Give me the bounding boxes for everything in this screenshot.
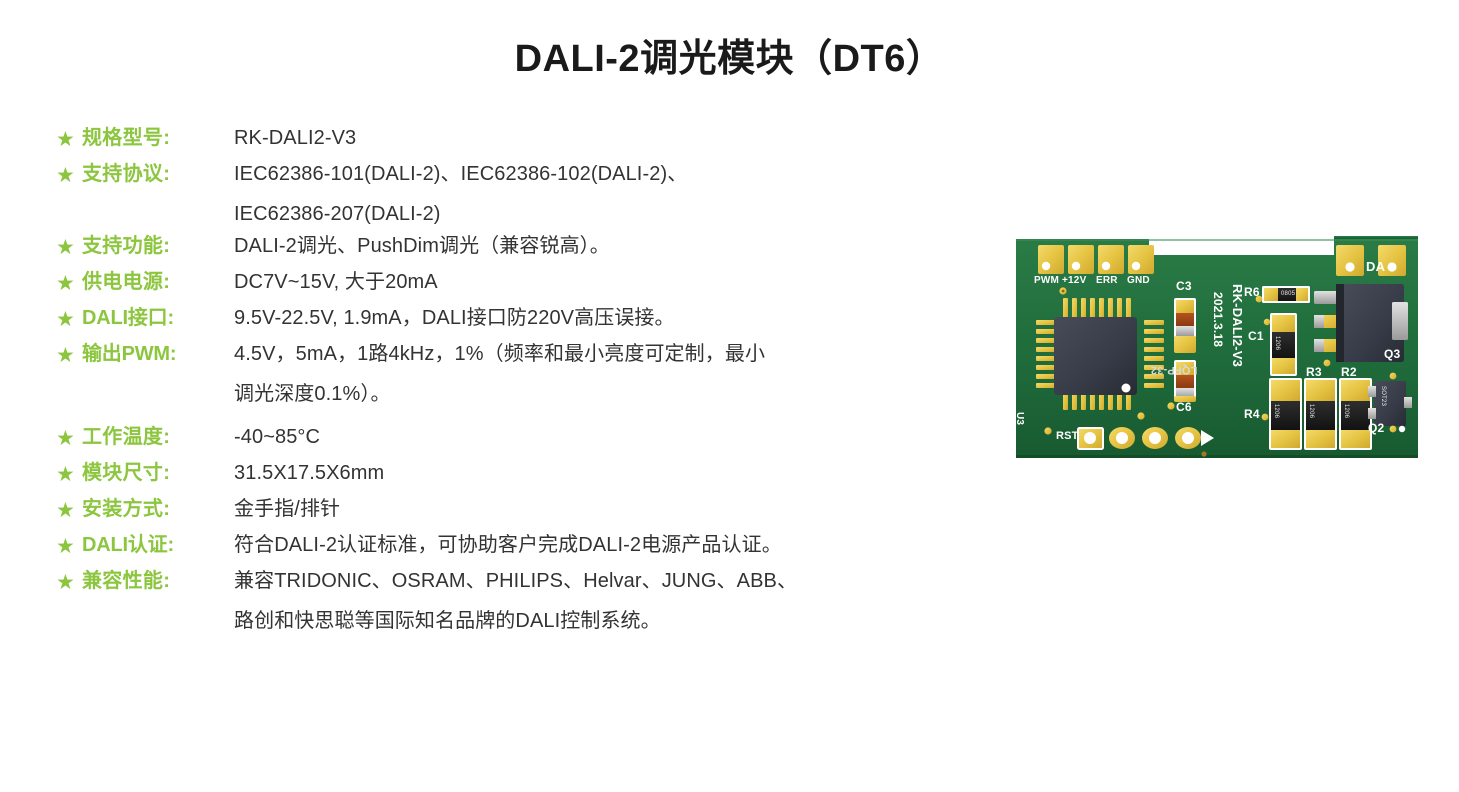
star-icon: ★	[56, 162, 82, 190]
spec-label: 供电电源:	[82, 268, 234, 296]
spec-value-line1: IEC62386-101(DALI-2)、IEC62386-102(DALI-2…	[234, 163, 687, 185]
pcb-component-code-r3: 1206	[1308, 404, 1314, 418]
pcb-component-code-r2: 1206	[1343, 404, 1349, 418]
spec-row-dimensions: ★ 模块尺寸: 31.5X17.5X6mm	[56, 459, 966, 489]
star-icon: ★	[56, 461, 82, 489]
star-icon: ★	[56, 533, 82, 561]
spec-value: 兼容TRIDONIC、OSRAM、PHILIPS、Helvar、JUNG、ABB…	[234, 567, 966, 635]
spec-value-line1: 4.5V，5mA，1路4kHz，1%（频率和最小亮度可定制，最小	[234, 343, 765, 365]
star-icon: ★	[56, 497, 82, 525]
pcb-designator-q3: Q3	[1384, 348, 1400, 360]
spec-value: 金手指/排针	[234, 495, 966, 523]
spec-row-compatibility: ★ 兼容性能: 兼容TRIDONIC、OSRAM、PHILIPS、Helvar、…	[56, 567, 966, 635]
pcb-designator-r3: R3	[1306, 366, 1322, 378]
spec-label: 支持功能:	[82, 232, 234, 260]
pcb-designator-c1: C1	[1248, 330, 1264, 342]
pcb-designator-u3: U3	[1014, 412, 1024, 425]
spec-value: 9.5V-22.5V, 1.9mA，DALI接口防220V高压误接。	[234, 304, 966, 332]
spec-label: 工作温度:	[82, 423, 234, 451]
star-icon: ★	[56, 126, 82, 154]
spec-value: 符合DALI-2认证标准，可协助客户完成DALI-2电源产品认证。	[234, 531, 966, 559]
spec-value-line2: 路创和快思聪等国际知名品牌的DALI控制系统。	[234, 607, 966, 635]
star-icon: ★	[56, 569, 82, 597]
spec-row-pwm-output: ★ 输出PWM: 4.5V，5mA，1路4kHz，1%（频率和最小亮度可定制，最…	[56, 340, 966, 408]
pcb-pad-label-12v: +12V	[1062, 276, 1086, 286]
pcb-designator-c3: C3	[1176, 280, 1192, 292]
pcb-pad-label-da: DA	[1366, 260, 1385, 273]
pcb-chip-label: LQFP-32	[1134, 364, 1214, 375]
pcb-component-code-c1: 1206	[1274, 336, 1280, 350]
spec-value: IEC62386-101(DALI-2)、IEC62386-102(DALI-2…	[234, 160, 966, 228]
spec-row-protocols: ★ 支持协议: IEC62386-101(DALI-2)、IEC62386-10…	[56, 160, 966, 228]
spec-row-power-supply: ★ 供电电源: DC7V~15V, 大于20mA	[56, 268, 966, 298]
pcb-pad-label-gnd: GND	[1127, 276, 1150, 286]
spec-row-mounting: ★ 安装方式: 金手指/排针	[56, 495, 966, 525]
star-icon: ★	[56, 234, 82, 262]
pcb-designator-r6: R6	[1244, 286, 1260, 298]
spec-value: RK-DALI2-V3	[234, 124, 966, 152]
pcb-bottom-pads	[1078, 427, 1214, 449]
pcb-pad-label-err: ERR	[1096, 276, 1118, 286]
spec-value: DALI-2调光、PushDim调光（兼容锐高）。	[234, 232, 966, 260]
pcb-component-code-q2: SOT23	[1380, 386, 1386, 406]
spec-value-line1: 兼容TRIDONIC、OSRAM、PHILIPS、Helvar、JUNG、ABB…	[234, 570, 797, 592]
spec-value: 4.5V，5mA，1路4kHz，1%（频率和最小亮度可定制，最小 调光深度0.1…	[234, 340, 966, 408]
pcb-component-code-r4: 1206	[1273, 404, 1279, 418]
spec-row-model: ★ 规格型号: RK-DALI2-V3	[56, 124, 966, 154]
star-icon: ★	[56, 306, 82, 334]
pcb-cap-c3	[1174, 298, 1196, 353]
spec-label: DALI认证:	[82, 531, 234, 559]
pcb-component-code-r6: 0805	[1281, 291, 1295, 297]
pcb-designator-c6: C6	[1176, 401, 1192, 413]
pcb-board-date-label: 2021.3.18	[1212, 292, 1224, 347]
pcb-board-model-label: RK-DALI2-V3	[1231, 284, 1244, 367]
spec-row-operating-temperature: ★ 工作温度: -40~85°C	[56, 423, 966, 453]
pcb-designator-r4: R4	[1244, 408, 1260, 420]
pcb-module-image: PWM +12V ERR GND DA LQFP-32 RK-DALI2-V3 …	[1016, 236, 1418, 461]
pcb-pad-label-pwm: PWM	[1034, 276, 1059, 286]
spec-row-functions: ★ 支持功能: DALI-2调光、PushDim调光（兼容锐高）。	[56, 232, 966, 262]
spec-value: DC7V~15V, 大于20mA	[234, 268, 966, 296]
spec-value-line2: IEC62386-207(DALI-2)	[234, 200, 966, 228]
pcb-illustration	[1016, 236, 1418, 461]
spec-label: 安装方式:	[82, 495, 234, 523]
spec-label: 模块尺寸:	[82, 459, 234, 487]
pcb-designator-r2: R2	[1341, 366, 1357, 378]
spec-value: -40~85°C	[234, 423, 966, 451]
pcb-designator-q2: Q2	[1368, 422, 1384, 434]
spec-label: DALI接口:	[82, 304, 234, 332]
pcb-top-notch	[1149, 236, 1334, 255]
star-icon: ★	[56, 342, 82, 370]
spec-label: 规格型号:	[82, 124, 234, 152]
spec-value-line2: 调光深度0.1%）。	[234, 380, 966, 408]
pcb-label-rst: RST	[1056, 431, 1079, 442]
star-icon: ★	[56, 270, 82, 298]
spec-row-dali-interface: ★ DALI接口: 9.5V-22.5V, 1.9mA，DALI接口防220V高…	[56, 304, 966, 334]
spec-label: 输出PWM:	[82, 340, 234, 368]
spec-list: ★ 规格型号: RK-DALI2-V3 ★ 支持协议: IEC62386-101…	[56, 124, 966, 641]
spec-value: 31.5X17.5X6mm	[234, 459, 966, 487]
spec-label: 支持协议:	[82, 160, 234, 188]
spec-label: 兼容性能:	[82, 567, 234, 595]
star-icon: ★	[56, 425, 82, 453]
page-title: DALI-2调光模块（DT6）	[0, 27, 1459, 82]
spec-row-certification: ★ DALI认证: 符合DALI-2认证标准，可协助客户完成DALI-2电源产品…	[56, 531, 966, 561]
